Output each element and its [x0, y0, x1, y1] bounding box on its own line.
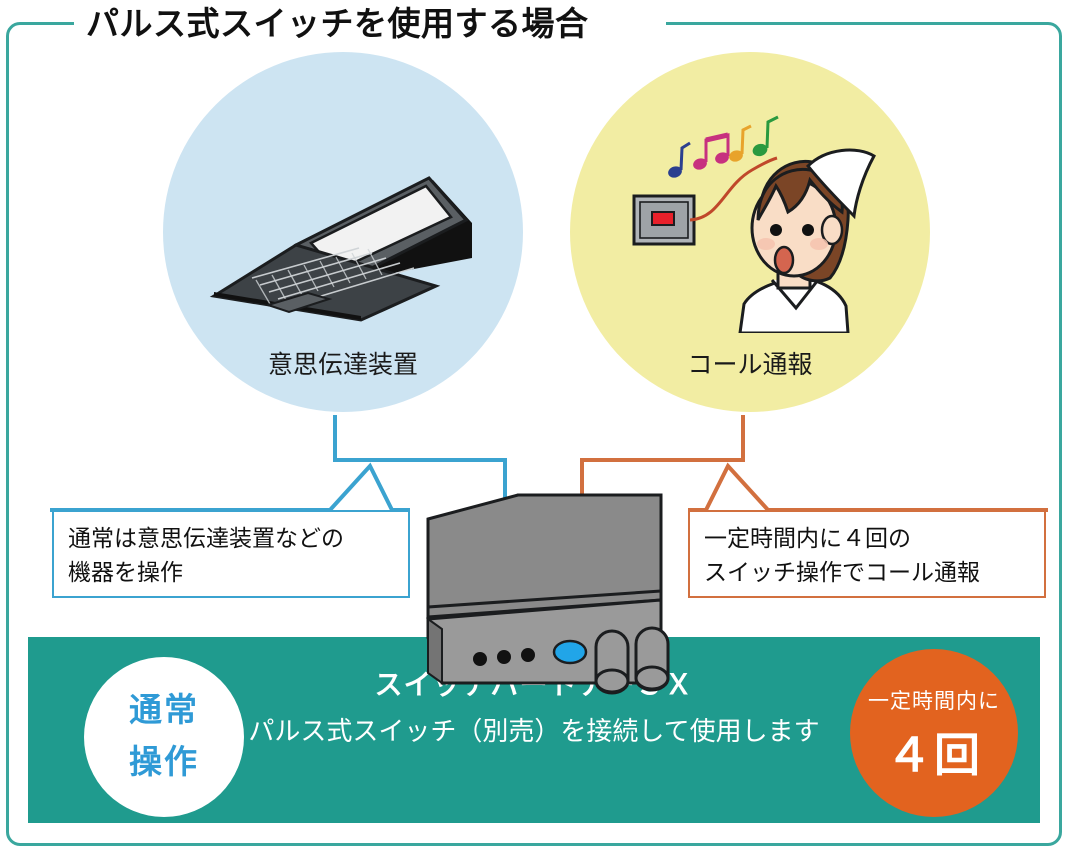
- callout-left-line1: 通常は意思伝達装置などの: [68, 521, 408, 555]
- page-title: パルス式スイッチを使用する場合: [86, 2, 666, 46]
- callout-left-line2: 機器を操作: [68, 555, 408, 589]
- badge-four-times: 一定時間内に ４回: [850, 649, 1018, 817]
- badge-count-line1: 一定時間内に: [850, 685, 1018, 715]
- switch-partner-device-icon: [418, 487, 688, 705]
- callout-call-trigger: 一定時間内に４回の スイッチ操作でコール通報: [688, 510, 1046, 598]
- callout-right-line2: スイッチ操作でコール通報: [704, 555, 1044, 589]
- diagram-canvas: パルス式スイッチを使用する場合 意思伝達装置: [0, 0, 1080, 858]
- circle-label-communication-device: 意思伝達装置: [163, 345, 523, 381]
- nurse-call-icon: [612, 108, 902, 333]
- badge-count-line2: ４回: [850, 719, 1018, 785]
- laptop-icon: [196, 128, 496, 323]
- callout-normal-operation: 通常は意思伝達装置などの 機器を操作: [52, 510, 410, 598]
- callout-right-line1: 一定時間内に４回の: [704, 521, 1044, 555]
- circle-label-call-notification: コール通報: [570, 345, 930, 381]
